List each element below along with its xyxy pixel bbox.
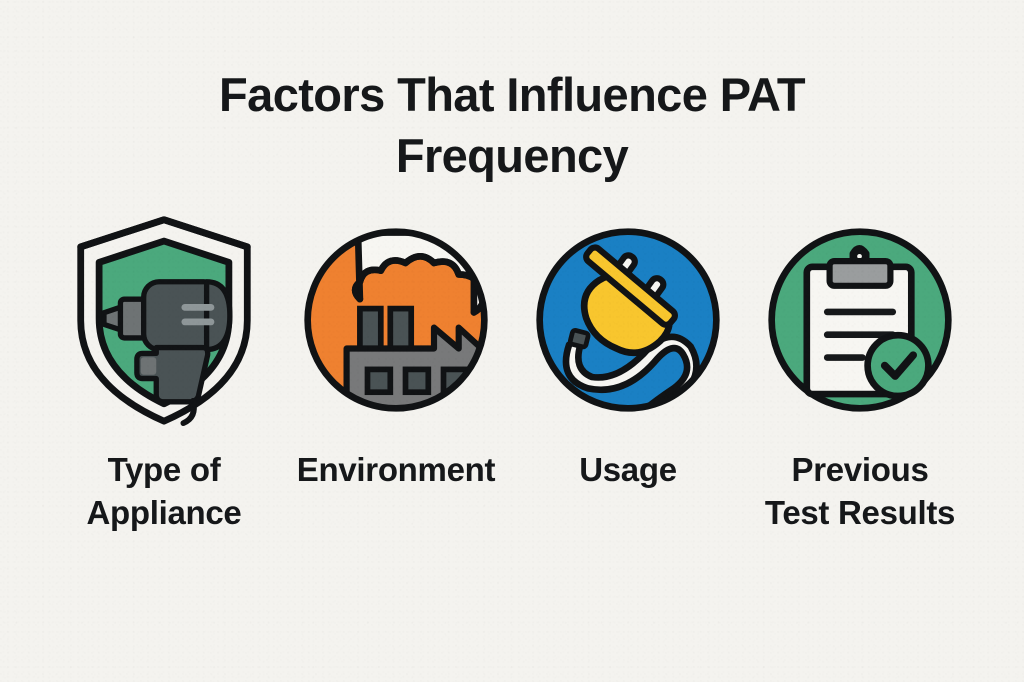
clipboard-check-icon [762, 212, 958, 427]
factor-label: Type of Appliance [64, 449, 264, 535]
power-plug-icon [530, 212, 726, 427]
factor-card-previous-test-results[interactable]: Previous Test Results [744, 212, 976, 535]
factor-label: Usage [528, 449, 728, 492]
page-title: Factors That Influence PAT Frequency [132, 64, 892, 186]
title-line-2: Frequency [132, 125, 892, 186]
factor-card-row: Type of Appliance [0, 212, 1024, 535]
factor-card-environment[interactable]: Environment [280, 212, 512, 492]
infographic-poster: Factors That Influence PAT Frequency [0, 0, 1024, 682]
shield-drill-icon [66, 212, 262, 427]
factor-label: Previous Test Results [745, 449, 975, 535]
factor-card-type-of-appliance[interactable]: Type of Appliance [48, 212, 280, 535]
factor-label: Environment [280, 449, 512, 492]
factory-smoke-icon [298, 212, 494, 427]
factor-card-usage[interactable]: Usage [512, 212, 744, 492]
title-line-1: Factors That Influence PAT [132, 64, 892, 125]
